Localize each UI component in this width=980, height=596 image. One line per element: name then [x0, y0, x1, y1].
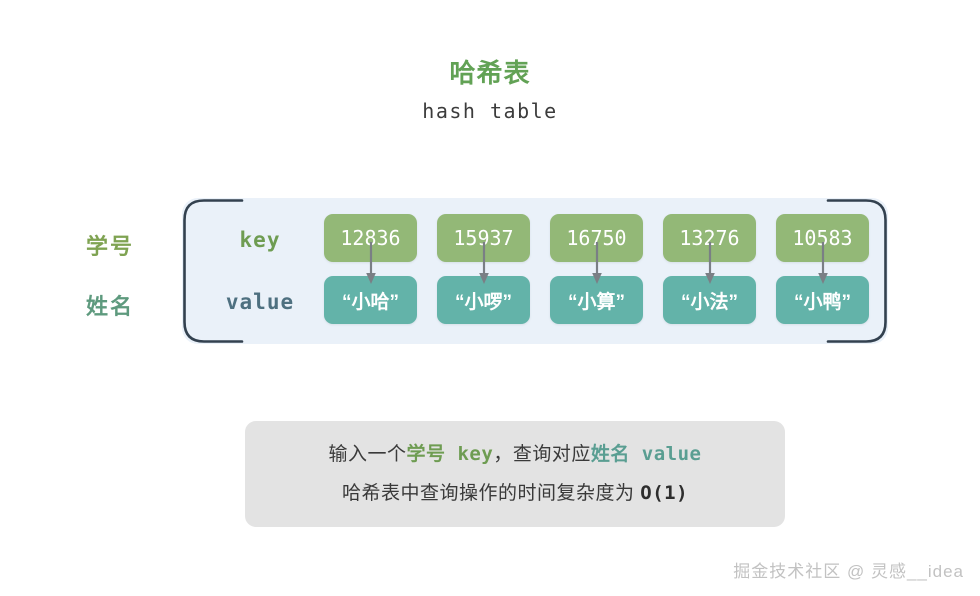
caption-line-1: 输入一个学号 key，查询对应姓名 value: [329, 441, 702, 468]
hash-entries: 12836 “小哈” 15937 “小啰” 16750 “小算”: [324, 214, 869, 324]
hash-entry[interactable]: 15937 “小啰”: [437, 214, 530, 324]
value-cell[interactable]: “小啰”: [437, 276, 530, 324]
hash-entry[interactable]: 12836 “小哈”: [324, 214, 417, 324]
caption-complexity-value: O(1): [640, 482, 688, 504]
caption-value-en: value: [630, 443, 702, 465]
hash-entry[interactable]: 10583 “小鸭”: [776, 214, 869, 324]
page-subtitle: hash table: [0, 98, 980, 124]
title-block: 哈希表 hash table: [0, 56, 980, 124]
caption-line-2: 哈希表中查询操作的时间复杂度为 O(1): [342, 480, 688, 507]
row-labels: 学号 姓名: [86, 218, 170, 332]
caption-text-query: ，查询对应: [493, 444, 591, 465]
hash-entry[interactable]: 13276 “小法”: [663, 214, 756, 324]
value-cell[interactable]: “小哈”: [324, 276, 417, 324]
key-cell[interactable]: 10583: [776, 214, 869, 262]
caption-value-cn: 姓名: [591, 444, 630, 465]
caption-text-input: 输入一个: [329, 444, 407, 465]
value-cell[interactable]: “小法”: [663, 276, 756, 324]
caption-complexity-text: 哈希表中查询操作的时间复杂度为: [342, 483, 640, 504]
value-cell[interactable]: “小鸭”: [776, 276, 869, 324]
kv-label-column: key value: [206, 216, 314, 326]
hash-entry[interactable]: 16750 “小算”: [550, 214, 643, 324]
key-cell[interactable]: 16750: [550, 214, 643, 262]
diagram-canvas: 哈希表 hash table 学号 姓名 key value 12836 “小哈…: [0, 0, 980, 596]
row-label-student-id: 学号: [86, 218, 170, 272]
caption-key-en: key: [446, 443, 494, 465]
caption-key-cn: 学号: [407, 444, 446, 465]
row-label-name: 姓名: [86, 278, 170, 332]
key-cell[interactable]: 15937: [437, 214, 530, 262]
caption-box: 输入一个学号 key，查询对应姓名 value 哈希表中查询操作的时间复杂度为 …: [245, 421, 785, 527]
hash-table-frame: key value 12836 “小哈” 15937 “小啰”: [182, 198, 888, 344]
key-cell[interactable]: 12836: [324, 214, 417, 262]
key-cell[interactable]: 13276: [663, 214, 756, 262]
key-column-label: key: [206, 216, 314, 264]
watermark: 掘金技术社区 @ 灵感__idea: [733, 557, 964, 582]
value-cell[interactable]: “小算”: [550, 276, 643, 324]
value-column-label: value: [206, 278, 314, 326]
page-title: 哈希表: [0, 56, 980, 90]
